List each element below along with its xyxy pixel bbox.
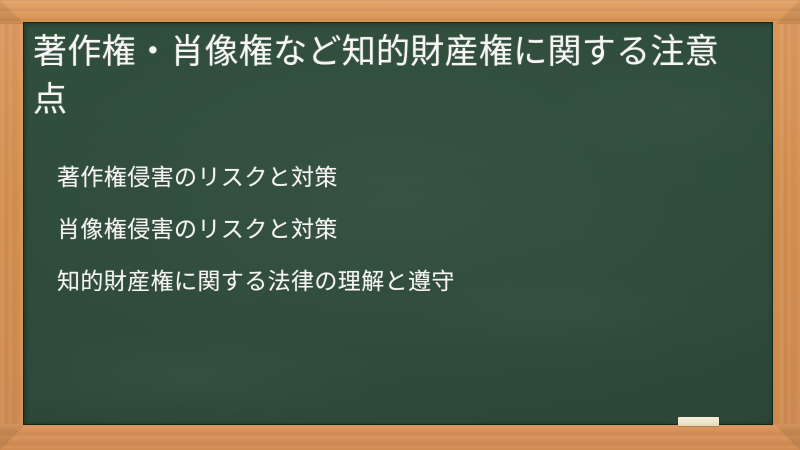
slide-title: 著作権・肖像権など知的財産権に関する注意点	[33, 28, 751, 124]
bullet-item: 知的財産権に関する法律の理解と遵守	[57, 256, 747, 308]
bullet-list: 著作権侵害のリスクと対策 肖像権侵害のリスクと対策 知的財産権に関する法律の理解…	[57, 152, 747, 308]
bullet-item: 著作権侵害のリスクと対策	[57, 152, 747, 204]
bullet-item: 肖像権侵害のリスクと対策	[57, 204, 747, 256]
frame-top-rail	[0, 0, 800, 24]
frame-bottom-ledge	[0, 424, 800, 450]
chalkboard-slide: 著作権・肖像権など知的財産権に関する注意点 著作権侵害のリスクと対策 肖像権侵害…	[0, 0, 800, 450]
chalk-stick	[678, 417, 719, 426]
chalkboard-surface: 著作権・肖像権など知的財産権に関する注意点 著作権侵害のリスクと対策 肖像権侵害…	[23, 22, 773, 425]
